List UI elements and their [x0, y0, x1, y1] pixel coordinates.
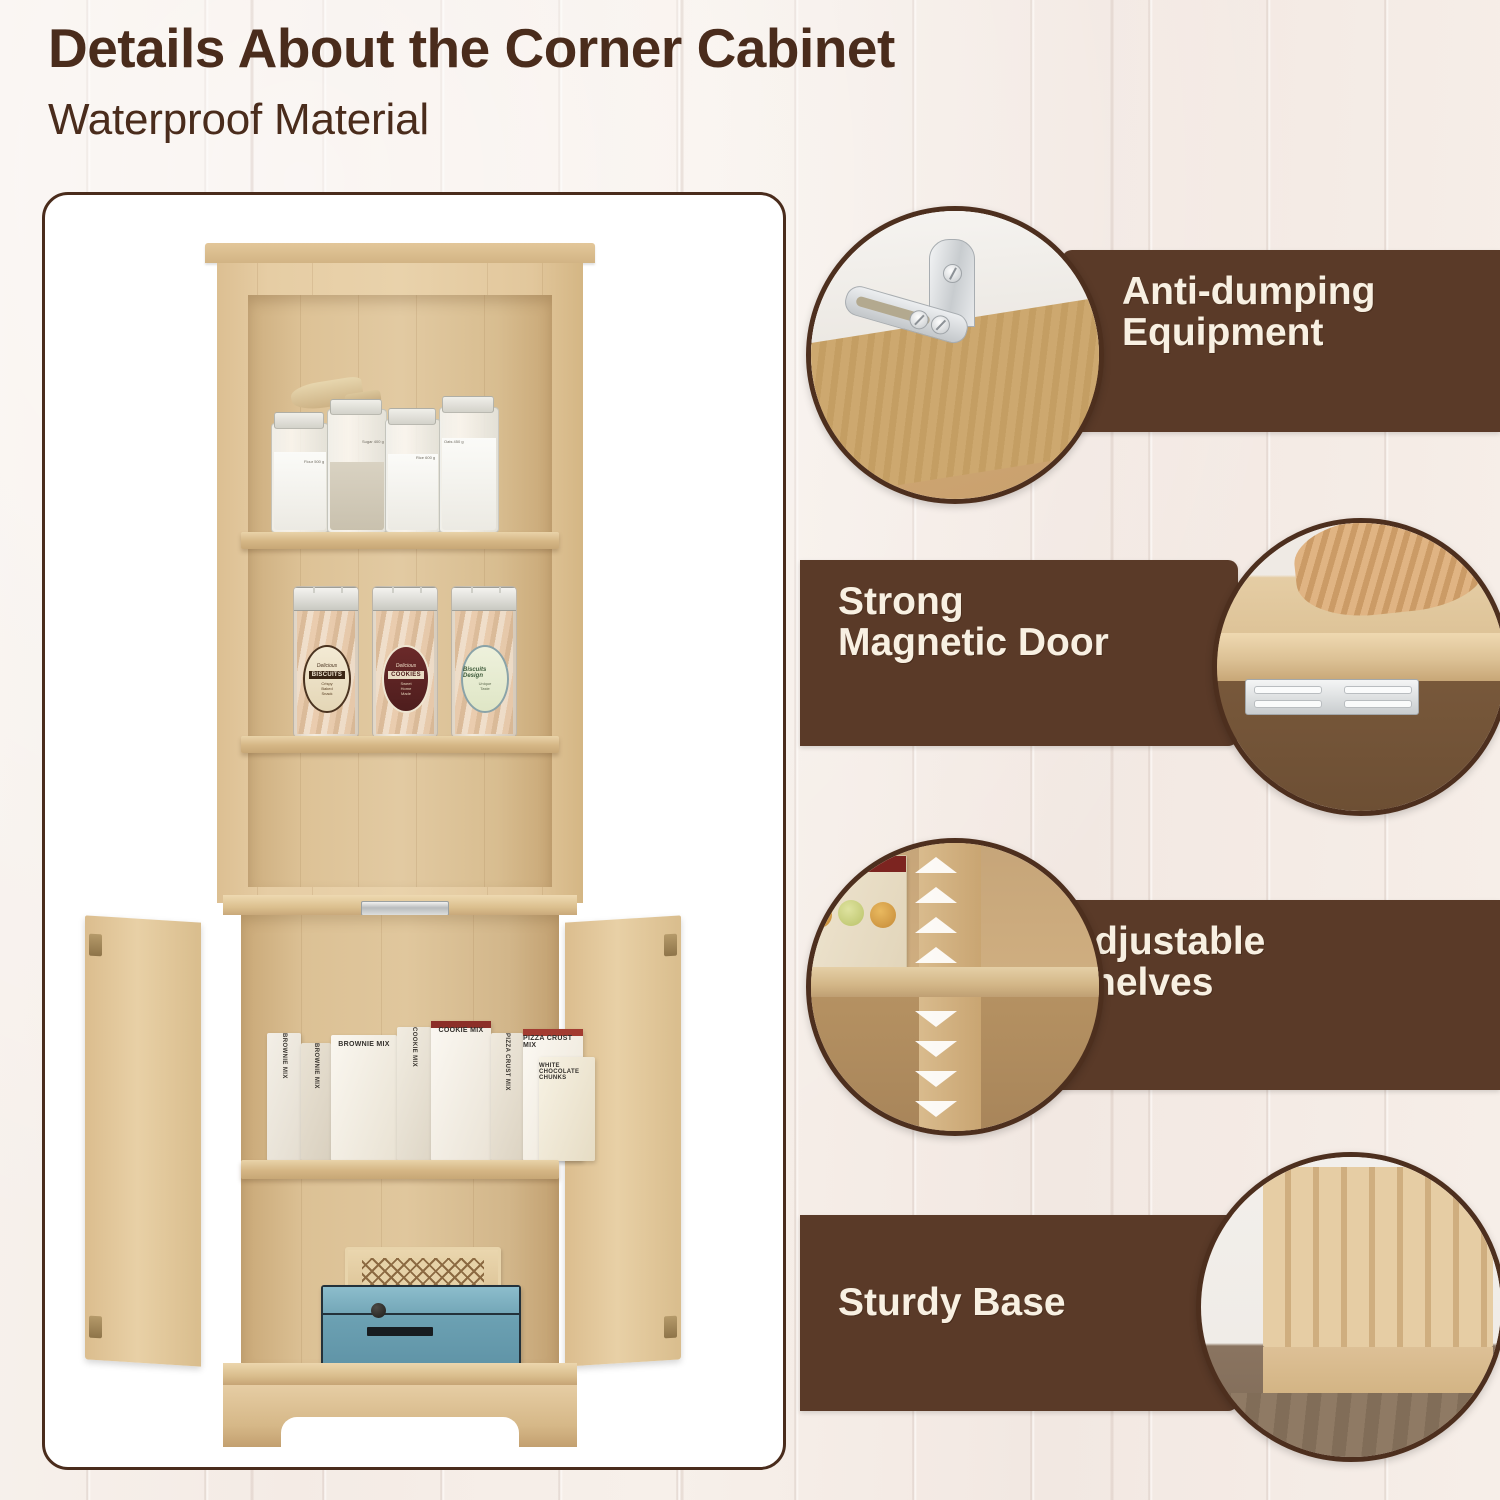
cabinet-shelf [241, 1160, 559, 1179]
feature-photo-anti-dumping [806, 206, 1104, 504]
cabinet-bottom-panel [223, 1363, 577, 1385]
glass-jar: Flour 500 g [271, 423, 329, 533]
feature-photo-adjustable-shelves [806, 838, 1104, 1136]
biscuit-canister: Delicious BISCUITS Crispy Baked Snack [293, 586, 359, 738]
cabinet-shelf [241, 532, 559, 549]
grocery-box: COOKIE MIX [431, 1021, 491, 1161]
grocery-box: BROWNIE MIX [267, 1033, 301, 1161]
grocery-box: PIZZA CRUST MIX [491, 1033, 523, 1161]
cabinet-door-left[interactable] [85, 915, 201, 1366]
cabinet-shelf [241, 736, 559, 753]
jar-label-text: Oats 450 g [444, 440, 470, 498]
cabinet-base-arch-cutout [281, 1417, 519, 1451]
glass-jar: Oats 450 g [439, 407, 499, 533]
feature-label-anti-dumping: Anti-dumping Equipment [1122, 272, 1375, 353]
base-slats [1263, 1167, 1493, 1347]
jar-label-text: Rice 600 g [416, 456, 438, 508]
feature-label-sturdy-base: Sturdy Base [838, 1283, 1066, 1324]
grocery-box: COOKIE MIX [397, 1027, 431, 1161]
glass-jar: Sugar 400 g [327, 409, 387, 533]
jar-label-text: Sugar 400 g [362, 440, 384, 496]
jar-label-text: Flour 500 g [304, 460, 326, 512]
crate-slot [367, 1327, 433, 1336]
page-subtitle: Waterproof Material [48, 95, 429, 145]
glass-jar: Rice 600 g [385, 419, 441, 533]
grocery-box: WHITE CHOCOLATE CHUNKS [539, 1057, 595, 1161]
feature-photo-magnetic-door [1212, 518, 1500, 816]
grocery-box: BROWNIE MIX [301, 1043, 331, 1161]
cabinet-top-cap [205, 243, 595, 263]
canister-label: Delicious COOKIES Sweet Home Made [382, 645, 430, 713]
page-title: Details About the Corner Cabinet [48, 16, 895, 80]
wicker-basket [1291, 518, 1490, 623]
canister-label: Biscuits Design Unique Taste [461, 645, 509, 713]
product-photo-panel: Flour 500 g Sugar 400 g Rice 600 g Oats … [42, 192, 786, 1470]
magnetic-catch [361, 901, 449, 916]
biscuit-canister: Delicious COOKIES Sweet Home Made [372, 586, 438, 738]
grocery-box: BROWNIE MIX [331, 1035, 397, 1161]
feature-photo-sturdy-base [1196, 1152, 1500, 1462]
magnetic-catch-plate [1245, 679, 1419, 715]
canister-label: Delicious BISCUITS Crispy Baked Snack [303, 645, 351, 713]
feature-label-magnetic-door: Strong Magnetic Door [838, 582, 1109, 663]
cookie-box [806, 855, 907, 973]
crate-knob [371, 1303, 386, 1318]
blue-storage-crate [321, 1285, 521, 1371]
biscuit-canister: Biscuits Design Unique Taste [451, 586, 517, 738]
